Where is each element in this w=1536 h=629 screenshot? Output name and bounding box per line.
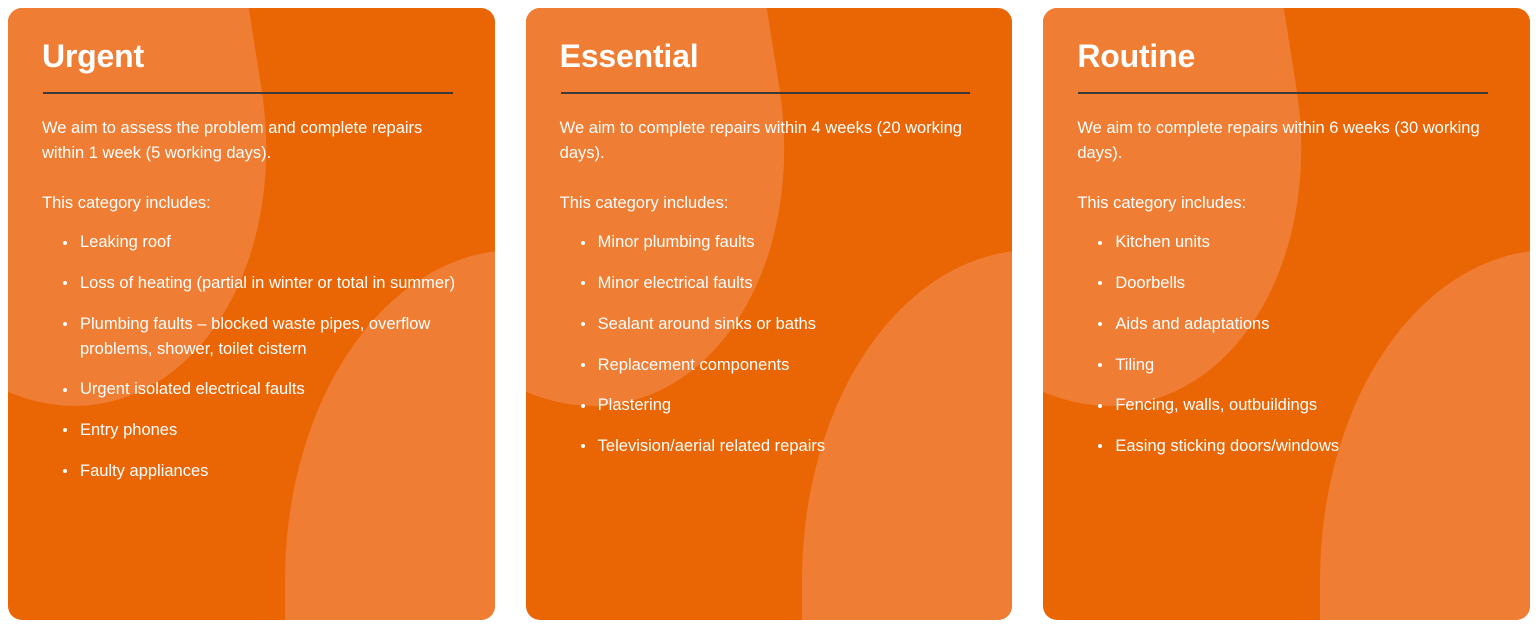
list-item-label: Easing sticking doors/windows (1115, 437, 1339, 455)
list-item: Plastering (598, 393, 975, 418)
list-item: Aids and adaptations (1115, 312, 1492, 337)
card-divider (561, 92, 971, 94)
list-item: Sealant around sinks or baths (598, 312, 975, 337)
list-item-label: Plumbing faults – blocked waste pipes, o… (80, 315, 430, 358)
list-item-label: Faulty appliances (80, 462, 208, 480)
list-item-label: Plastering (598, 396, 671, 414)
list-item: Minor plumbing faults (598, 230, 975, 255)
card-content: Routine We aim to complete repairs withi… (1043, 8, 1530, 459)
list-item-label: Television/aerial related repairs (598, 437, 825, 455)
card-content: Urgent We aim to assess the problem and … (8, 8, 495, 484)
card-title: Essential (560, 38, 975, 76)
list-item-label: Replacement components (598, 356, 790, 374)
list-item: Leaking roof (80, 230, 457, 255)
list-item-label: Minor electrical faults (598, 274, 753, 292)
list-item: Fencing, walls, outbuildings (1115, 393, 1492, 418)
repair-priority-cards: Urgent We aim to assess the problem and … (0, 0, 1536, 629)
list-item-label: Urgent isolated electrical faults (80, 380, 305, 398)
card-includes-label: This category includes: (560, 191, 975, 217)
card-item-list: Leaking roof Loss of heating (partial in… (42, 230, 457, 483)
list-item: Faulty appliances (80, 459, 457, 484)
repair-category-card-routine: Routine We aim to complete repairs withi… (1043, 8, 1530, 620)
bullet-dot-icon (581, 241, 585, 245)
bullet-dot-icon (63, 388, 67, 392)
list-item: Urgent isolated electrical faults (80, 377, 457, 402)
list-item: Tiling (1115, 353, 1492, 378)
bullet-dot-icon (581, 363, 585, 367)
list-item: Entry phones (80, 418, 457, 443)
list-item: Plumbing faults – blocked waste pipes, o… (80, 312, 457, 362)
card-divider (1078, 92, 1488, 94)
card-includes-label: This category includes: (1077, 191, 1492, 217)
bullet-dot-icon (1098, 241, 1102, 245)
bullet-dot-icon (1098, 322, 1102, 326)
bullet-dot-icon (581, 322, 585, 326)
list-item-label: Leaking roof (80, 233, 171, 251)
list-item: Replacement components (598, 353, 975, 378)
list-item-label: Doorbells (1115, 274, 1185, 292)
list-item-label: Minor plumbing faults (598, 233, 755, 251)
card-title: Routine (1077, 38, 1492, 76)
bullet-dot-icon (1098, 444, 1102, 448)
list-item-label: Kitchen units (1115, 233, 1209, 251)
list-item: Television/aerial related repairs (598, 434, 975, 459)
card-title: Urgent (42, 38, 457, 76)
card-intro-text: We aim to assess the problem and complet… (42, 116, 457, 167)
card-item-list: Kitchen units Doorbells Aids and adaptat… (1077, 230, 1492, 459)
bullet-dot-icon (63, 281, 67, 285)
list-item-label: Entry phones (80, 421, 177, 439)
list-item: Easing sticking doors/windows (1115, 434, 1492, 459)
card-divider (43, 92, 453, 94)
bullet-dot-icon (1098, 363, 1102, 367)
bullet-dot-icon (63, 428, 67, 432)
repair-category-card-essential: Essential We aim to complete repairs wit… (526, 8, 1013, 620)
bullet-dot-icon (1098, 404, 1102, 408)
bullet-dot-icon (63, 322, 67, 326)
list-item: Minor electrical faults (598, 271, 975, 296)
bullet-dot-icon (581, 281, 585, 285)
card-item-list: Minor plumbing faults Minor electrical f… (560, 230, 975, 459)
bullet-dot-icon (581, 404, 585, 408)
list-item-label: Loss of heating (partial in winter or to… (80, 274, 455, 292)
card-intro-text: We aim to complete repairs within 6 week… (1077, 116, 1492, 167)
bullet-dot-icon (63, 469, 67, 473)
repair-category-card-urgent: Urgent We aim to assess the problem and … (8, 8, 495, 620)
list-item-label: Aids and adaptations (1115, 315, 1269, 333)
list-item: Loss of heating (partial in winter or to… (80, 271, 457, 296)
list-item: Kitchen units (1115, 230, 1492, 255)
card-content: Essential We aim to complete repairs wit… (526, 8, 1013, 459)
list-item-label: Fencing, walls, outbuildings (1115, 396, 1317, 414)
bullet-dot-icon (63, 241, 67, 245)
list-item: Doorbells (1115, 271, 1492, 296)
bullet-dot-icon (1098, 281, 1102, 285)
list-item-label: Sealant around sinks or baths (598, 315, 816, 333)
card-includes-label: This category includes: (42, 191, 457, 217)
list-item-label: Tiling (1115, 356, 1154, 374)
bullet-dot-icon (581, 444, 585, 448)
card-intro-text: We aim to complete repairs within 4 week… (560, 116, 975, 167)
